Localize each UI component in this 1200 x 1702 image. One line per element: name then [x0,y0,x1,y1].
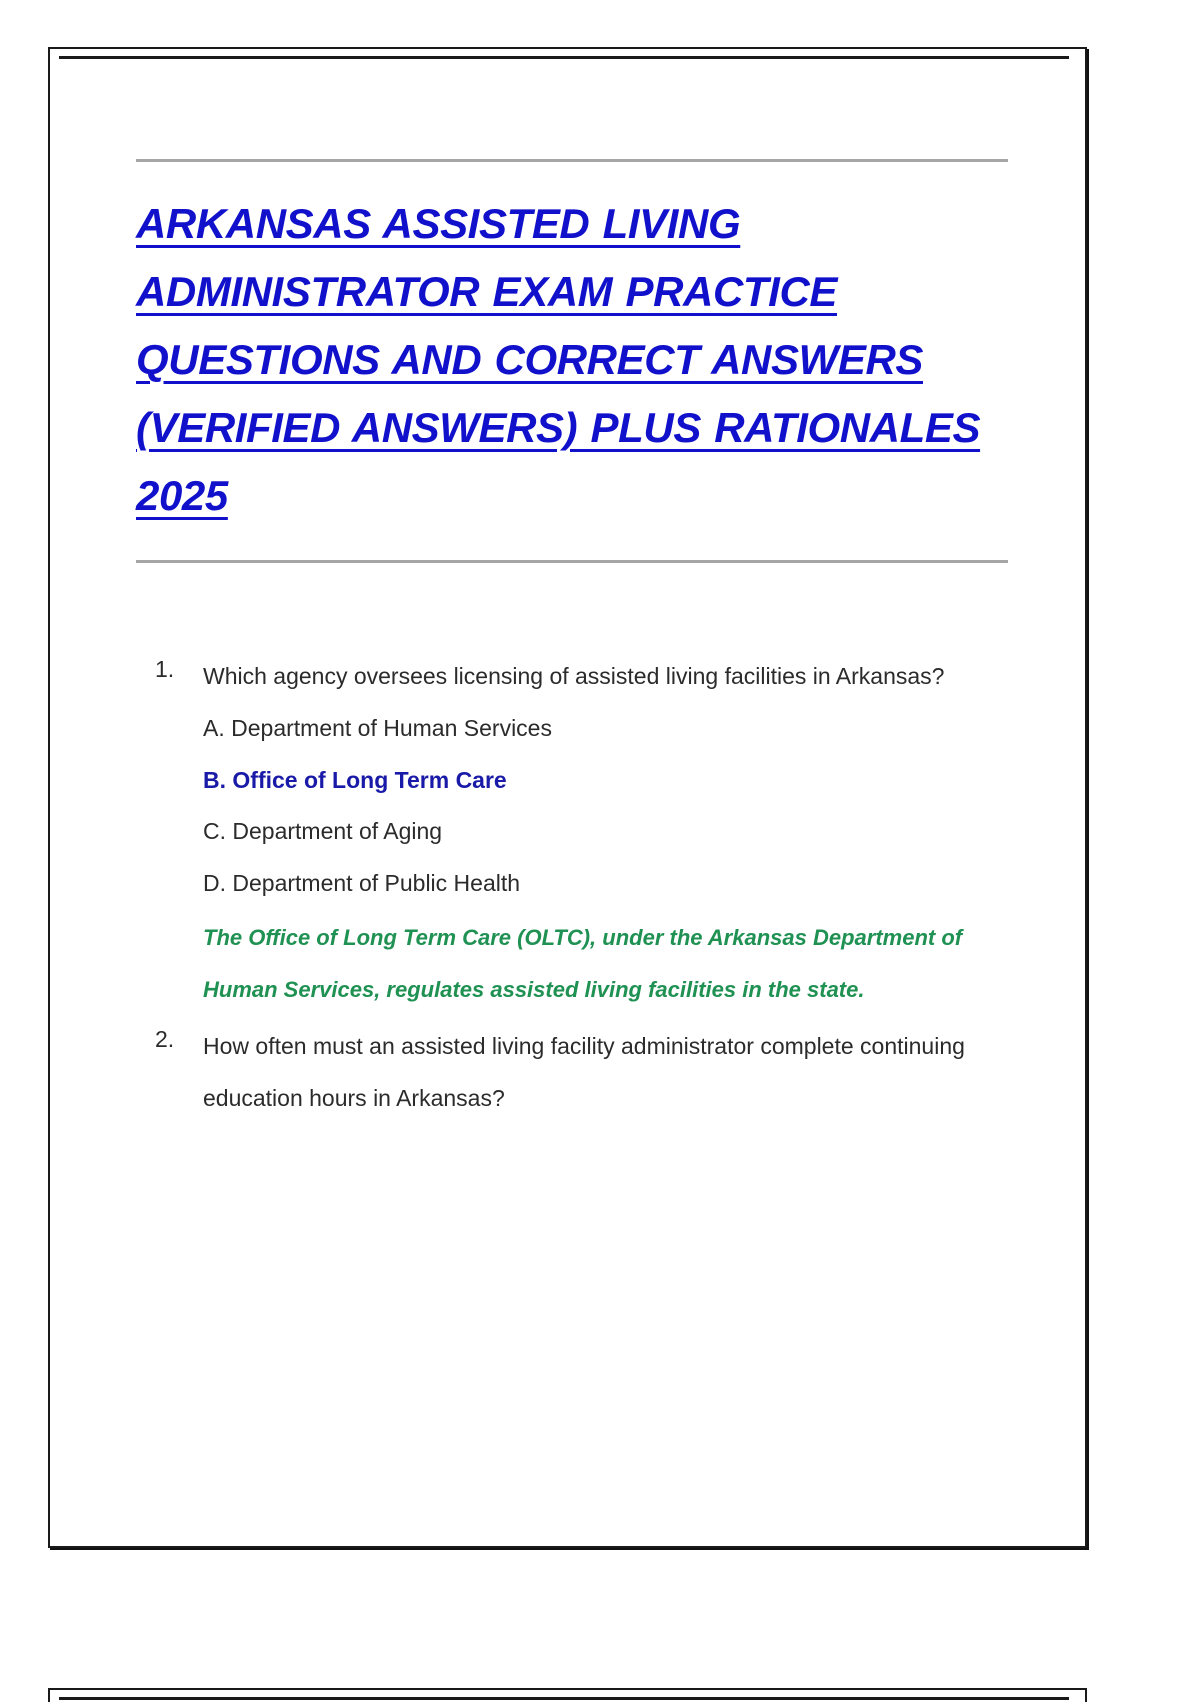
title-line-5: 2025 [136,462,1008,530]
option-b[interactable]: B. Office of Long Term Care [203,755,1008,807]
question-number: 1. [155,651,174,687]
option-list: A. Department of Human Services B. Offic… [203,703,1008,910]
question-text: How often must an assisted living facili… [203,1021,1008,1125]
question-text: Which agency oversees licensing of assis… [203,651,1008,703]
title-divider-bottom [136,560,1008,563]
question-item-2: 2. How often must an assisted living fac… [136,1021,1008,1125]
title-line-3: QUESTIONS AND CORRECT ANSWERS [136,326,1008,394]
option-c[interactable]: C. Department of Aging [203,806,1008,858]
title-line-1: ARKANSAS ASSISTED LIVING [136,190,1008,258]
option-a[interactable]: A. Department of Human Services [203,703,1008,755]
question-item-1: 1. Which agency oversees licensing of as… [136,651,1008,1015]
document-page: ARKANSAS ASSISTED LIVING ADMINISTRATOR E… [48,47,1087,1548]
page-title: ARKANSAS ASSISTED LIVING ADMINISTRATOR E… [136,162,1008,530]
question-list: 1. Which agency oversees licensing of as… [136,651,1008,1125]
page-content: ARKANSAS ASSISTED LIVING ADMINISTRATOR E… [136,109,1008,1131]
option-d[interactable]: D. Department of Public Health [203,858,1008,910]
title-line-4: (VERIFIED ANSWERS) PLUS RATIONALES [136,394,1008,462]
title-line-2: ADMINISTRATOR EXAM PRACTICE [136,258,1008,326]
rationale-text: The Office of Long Term Care (OLTC), und… [203,912,1008,1015]
page-top-rule [59,56,1069,59]
question-number: 2. [155,1021,174,1057]
